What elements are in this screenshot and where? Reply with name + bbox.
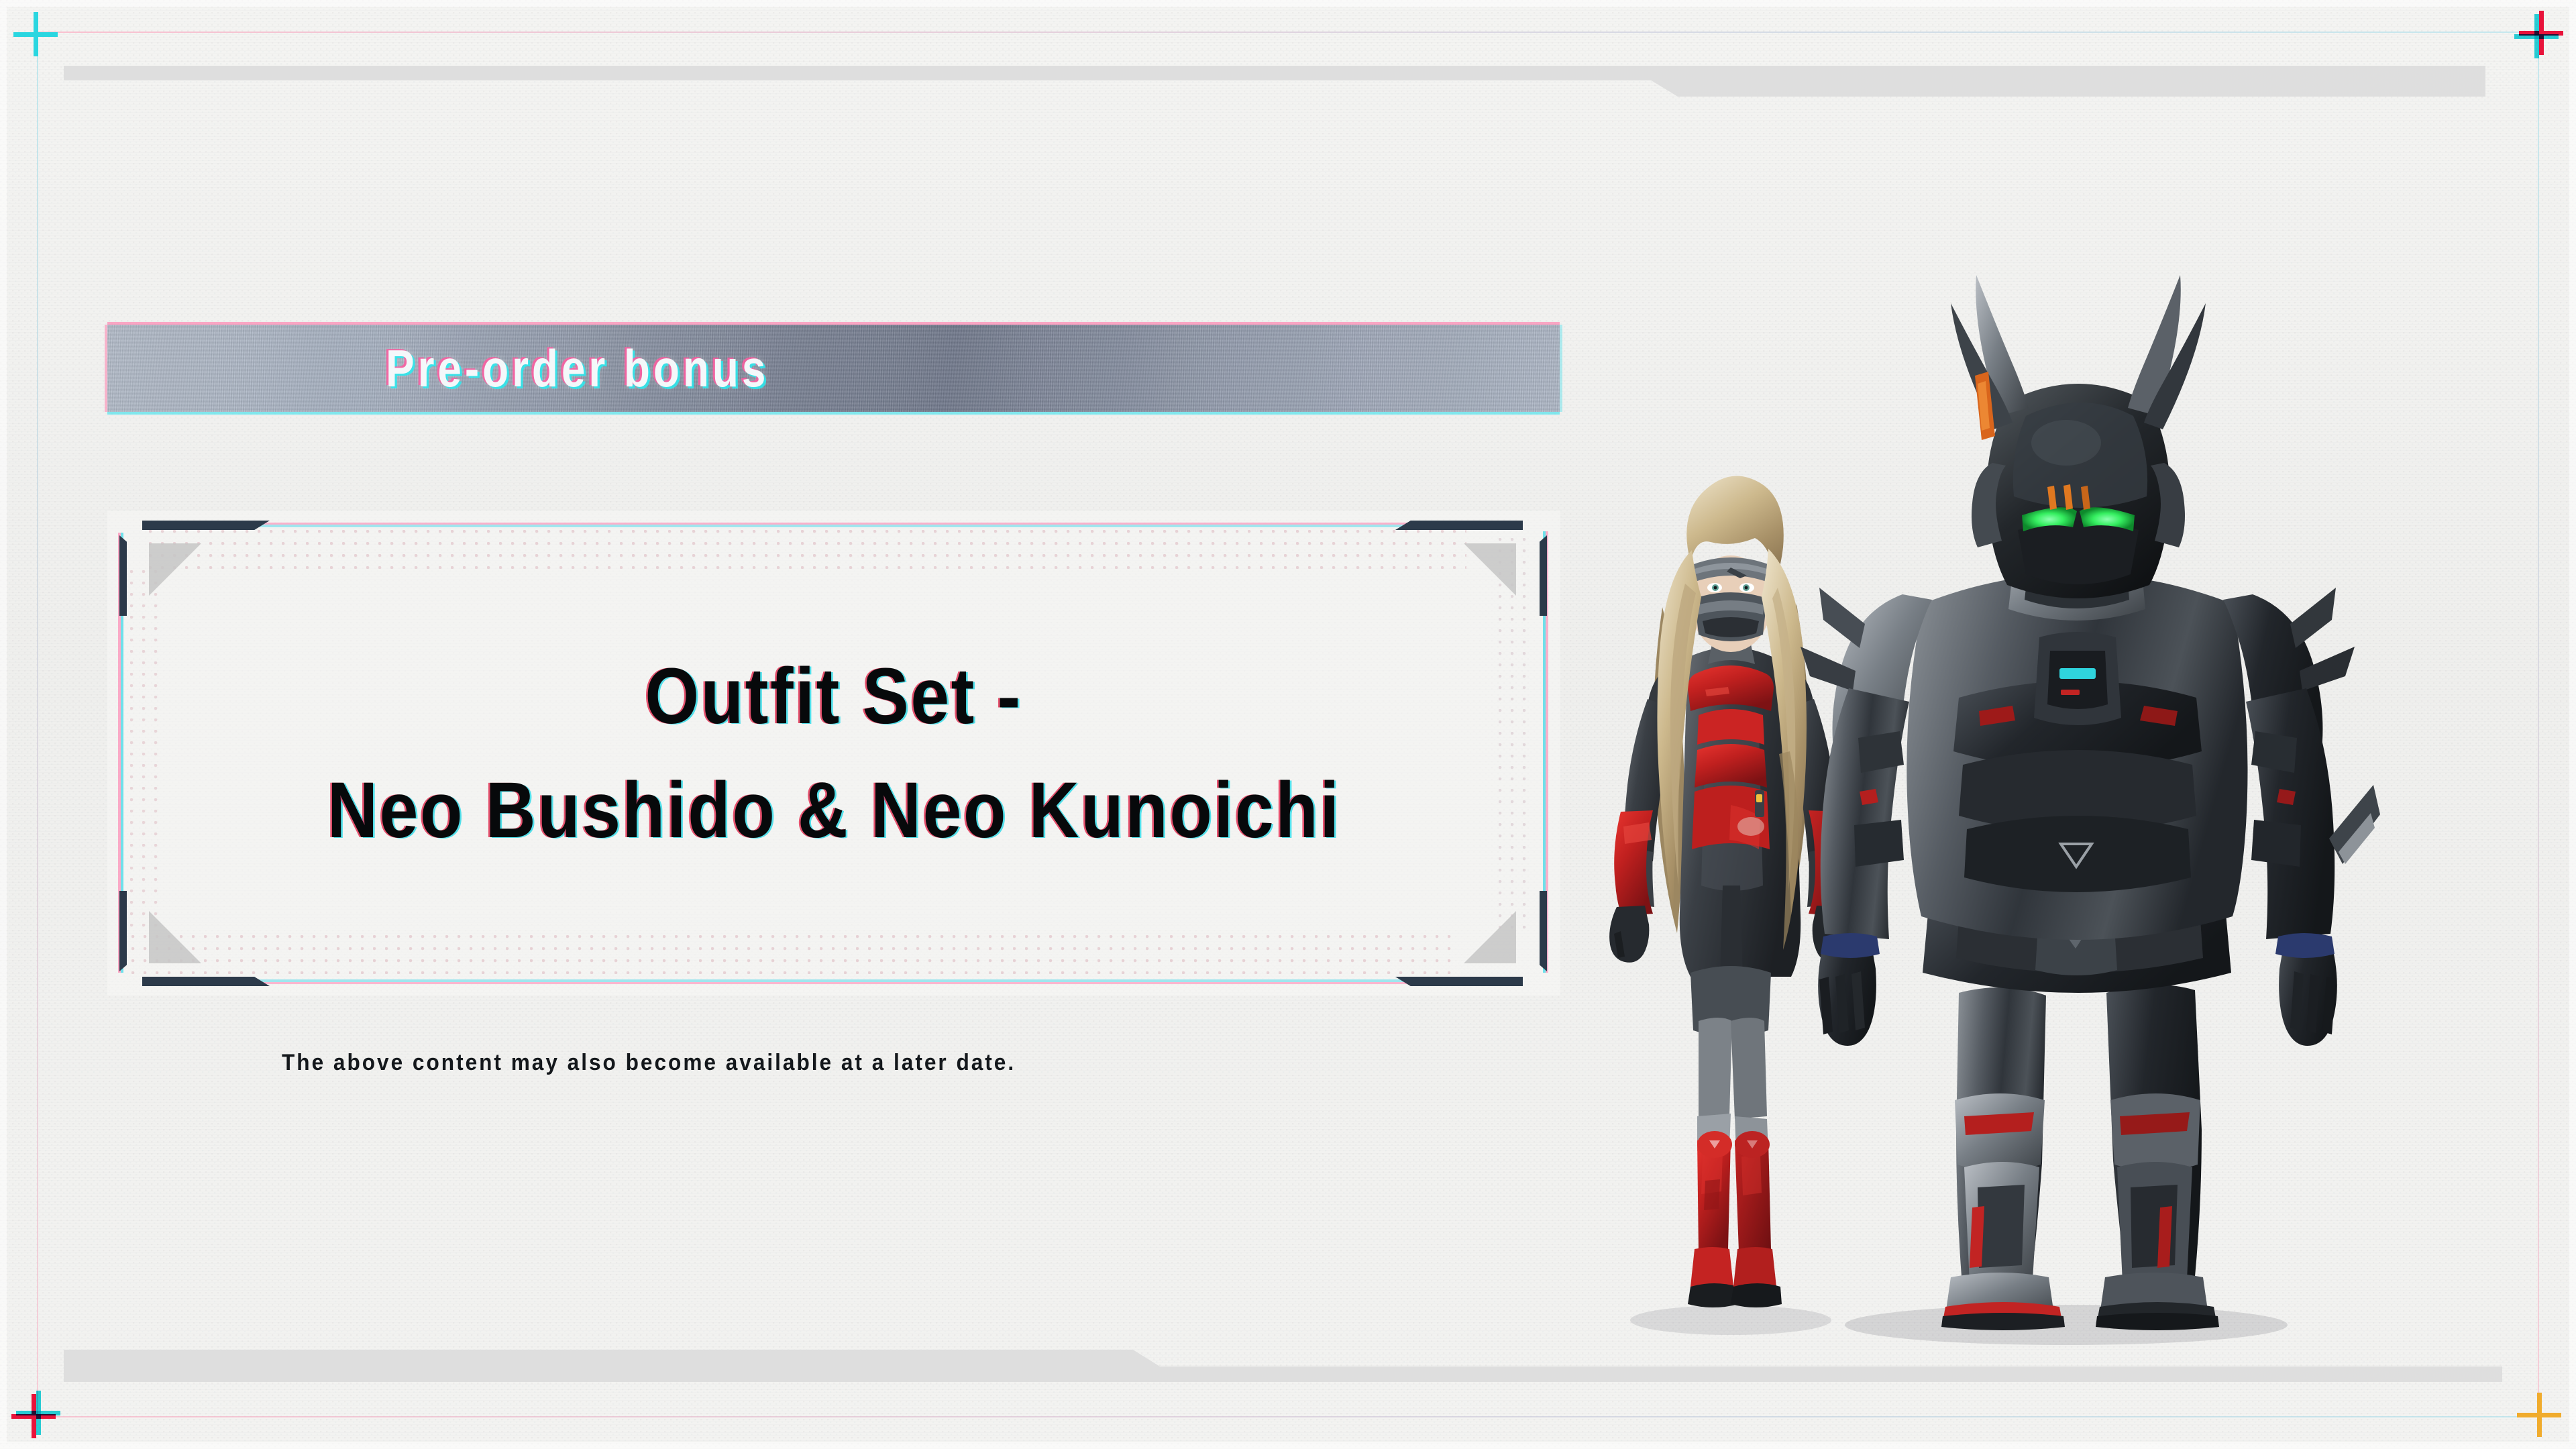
banner-texture <box>107 325 1560 412</box>
outfit-title-panel: Outfit Set - Neo Bushido & Neo Kunoichi <box>107 511 1560 996</box>
outfit-title-line-1: Outfit Set - <box>645 652 1022 741</box>
registration-crosshair-icon-top-right <box>2517 12 2561 56</box>
title-text-group: Outfit Set - Neo Bushido & Neo Kunoichi <box>107 511 1560 996</box>
registration-crosshair-icon-top-left <box>13 12 58 56</box>
pre-order-bonus-banner: Pre-order bonus <box>107 325 1560 412</box>
registration-crosshair-icon-bottom-right <box>2517 1393 2561 1437</box>
availability-disclaimer: The above content may also become availa… <box>282 1050 1016 1076</box>
registration-crosshair-icon-bottom-left <box>13 1393 58 1437</box>
banner-label: Pre-order bonus <box>386 338 769 399</box>
outfit-title-line-2: Neo Bushido & Neo Kunoichi <box>327 766 1341 855</box>
